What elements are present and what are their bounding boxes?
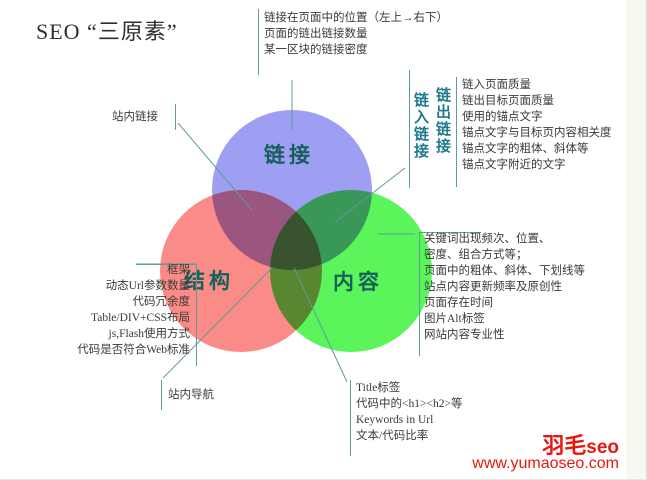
vlabel-char: 接 [435,139,452,156]
note-line: Table/DIV+CSS布局 [8,310,190,326]
note-line: 锚点文字的粗体、斜体等 [462,141,612,157]
note-line: 使用的锚点文字 [462,109,612,125]
note-line: 站点内容更新频率及原创性 [424,279,585,295]
note-line: 页面中的粗体、斜体、下划线等 [424,263,585,279]
note-line: 文本/代码比率 [356,428,462,444]
vlabel-char: 出 [435,105,452,122]
note-link-factors: 链入页面质量 链出目标页面质量 使用的锚点文字 锚点文字与目标页内容相关度 锚点… [462,77,612,173]
note-line: js,Flash使用方式 [8,326,190,342]
note-line: 代码是否符合Web标准 [8,342,190,358]
rule-bottom-note [350,380,351,456]
venn-label-structure: 结构 [184,265,234,295]
tag-site-nav: 站内导航 [168,386,214,402]
note-line: 锚点文字附近的文字 [462,157,612,173]
note-line: 页面存在时间 [424,295,585,311]
note-line: 某一区块的链接密度 [264,42,448,58]
vlabel-char: 接 [413,144,430,161]
rule-structure-note [196,264,197,366]
note-structure-factors: 框架 动态Url参数数量 代码冗余度 Table/DIV+CSS布局 js,Fl… [8,262,190,358]
note-onpage-factors: Title标签 代码中的<h1><h2>等 Keywords in Url 文本… [356,380,462,444]
vlabel-char: 入 [413,110,430,127]
rule-site-link-tag [175,104,176,130]
note-line: 页面的链出链接数量 [264,26,448,42]
note-line: 代码冗余度 [8,294,190,310]
note-line: 关键词出现频次、位置、 [424,231,585,247]
note-line: 网站内容专业性 [424,327,585,343]
note-line: Title标签 [356,380,462,396]
note-line: 密度、组合方式等； [424,247,585,263]
seo-venn-diagram: SEO “三原素” 链接 结构 内容 [0,0,647,480]
venn-label-link: 链接 [264,139,314,169]
vertical-label-link-out: 链 出 链 接 [435,88,452,156]
vlabel-char: 链 [413,93,430,110]
note-line: 框架 [8,262,190,278]
tag-site-link: 站内链接 [112,108,158,124]
note-line: 动态Url参数数量 [8,278,190,294]
vlabel-char: 链 [435,88,452,105]
vlabel-char: 链 [413,127,430,144]
note-top-right: 链接在页面中的位置（左上→右下） 页面的链出链接数量 某一区块的链接密度 [264,10,448,58]
note-content-factors: 关键词出现频次、位置、 密度、组合方式等； 页面中的粗体、斜体、下划线等 站点内… [424,231,585,343]
vertical-label-link-in: 链 入 链 接 [413,93,430,161]
note-line: 链入页面质量 [462,77,612,93]
rule-link-vertical-labels [409,70,410,188]
rule-top-right-note [258,9,259,75]
note-line: 代码中的<h1><h2>等 [356,396,462,412]
note-line: 链出目标页面质量 [462,93,612,109]
note-line: Keywords in Url [356,412,462,428]
venn-label-content: 内容 [333,266,383,296]
rule-right-link-note [456,77,457,187]
vlabel-char: 链 [435,122,452,139]
watermark-url: www.yumaoseo.com [472,455,619,473]
rule-content-note [419,232,420,356]
rule-site-nav-tag [161,380,162,410]
note-line: 图片Alt标签 [424,311,585,327]
note-line: 锚点文字与目标页内容相关度 [462,125,612,141]
note-line: 链接在页面中的位置（左上→右下） [264,10,448,26]
